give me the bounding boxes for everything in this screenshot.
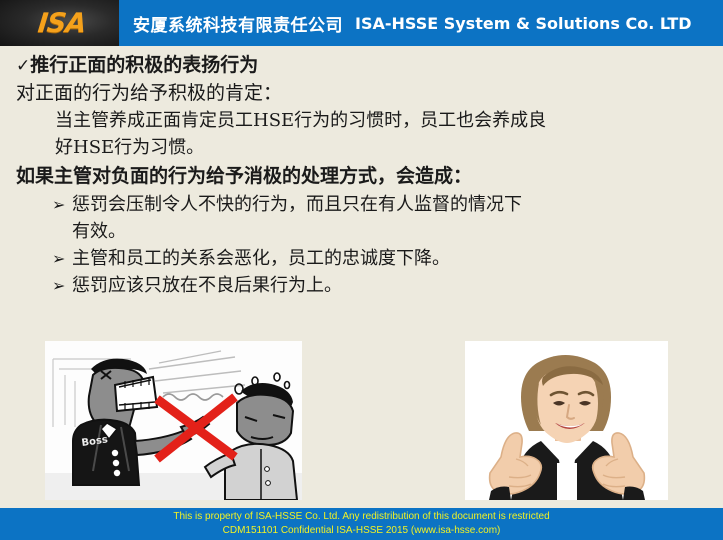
subline-positive-affirmation: 对正面的行为给予积极的肯定： (0, 80, 723, 107)
header-title-bar: 安厦系统科技有限责任公司 ISA-HSSE System & Solutions… (119, 0, 723, 46)
logo-text: ISA (37, 10, 87, 37)
checkmark-icon: ✓ (16, 56, 30, 76)
bullet-item-3: ➢惩罚应该只放在不良后果行为上。 (0, 272, 723, 299)
bullet-item-1-text: 惩罚会压制令人不快的行为，而且只在有人监督的情况下 (72, 194, 522, 215)
heading-negative-consequences: 如果主管对负面的行为给予消极的处理方式，会造成： (0, 161, 723, 191)
isa-logo: ISA (22, 8, 102, 38)
image-boss-shouting: Boss (45, 341, 302, 500)
bullet-item-1: ➢惩罚会压制令人不快的行为，而且只在有人监督的情况下 (0, 191, 723, 218)
heading-1-text: 推行正面的积极的表扬行为 (30, 54, 258, 76)
arrow-bullet-icon: ➢ (52, 191, 65, 218)
logo-panel: ISA (0, 0, 119, 46)
indent-line-1b: 好HSE行为习惯。 (0, 134, 723, 161)
arrow-bullet-icon: ➢ (52, 272, 65, 299)
bullet-item-1-continuation: 有效。 (0, 218, 723, 245)
footer-line-2: CDM151101 Confidential ISA-HSSE 2015 (ww… (223, 524, 501, 538)
header-title-en: ISA-HSSE System & Solutions Co. LTD (355, 14, 692, 33)
slide-header: ISA 安厦系统科技有限责任公司 ISA-HSSE System & Solut… (0, 0, 723, 46)
slide-canvas: ISA 安厦系统科技有限责任公司 ISA-HSSE System & Solut… (0, 0, 723, 540)
arrow-bullet-icon: ➢ (52, 245, 65, 272)
thumbs-up-photo (465, 341, 668, 500)
bullet-item-3-text: 惩罚应该只放在不良后果行为上。 (72, 275, 342, 296)
bullet-item-2-text: 主管和员工的关系会恶化，员工的忠诚度下降。 (72, 248, 450, 269)
slide-content: ✓推行正面的积极的表扬行为 对正面的行为给予积极的肯定： 当主管养成正面肯定员工… (0, 52, 723, 299)
indent-line-1a: 当主管养成正面肯定员工HSE行为的习惯时，员工也会养成良 (0, 107, 723, 134)
slide-footer: This is property of ISA-HSSE Co. Ltd. An… (0, 508, 723, 540)
boss-shouting-illustration: Boss (45, 341, 302, 500)
heading-positive-behavior: ✓推行正面的积极的表扬行为 (0, 52, 723, 80)
footer-line-1: This is property of ISA-HSSE Co. Ltd. An… (173, 510, 549, 524)
image-woman-thumbs-up (465, 341, 668, 500)
header-title-cn: 安厦系统科技有限责任公司 (133, 11, 343, 36)
bullet-item-2: ➢主管和员工的关系会恶化，员工的忠诚度下降。 (0, 245, 723, 272)
